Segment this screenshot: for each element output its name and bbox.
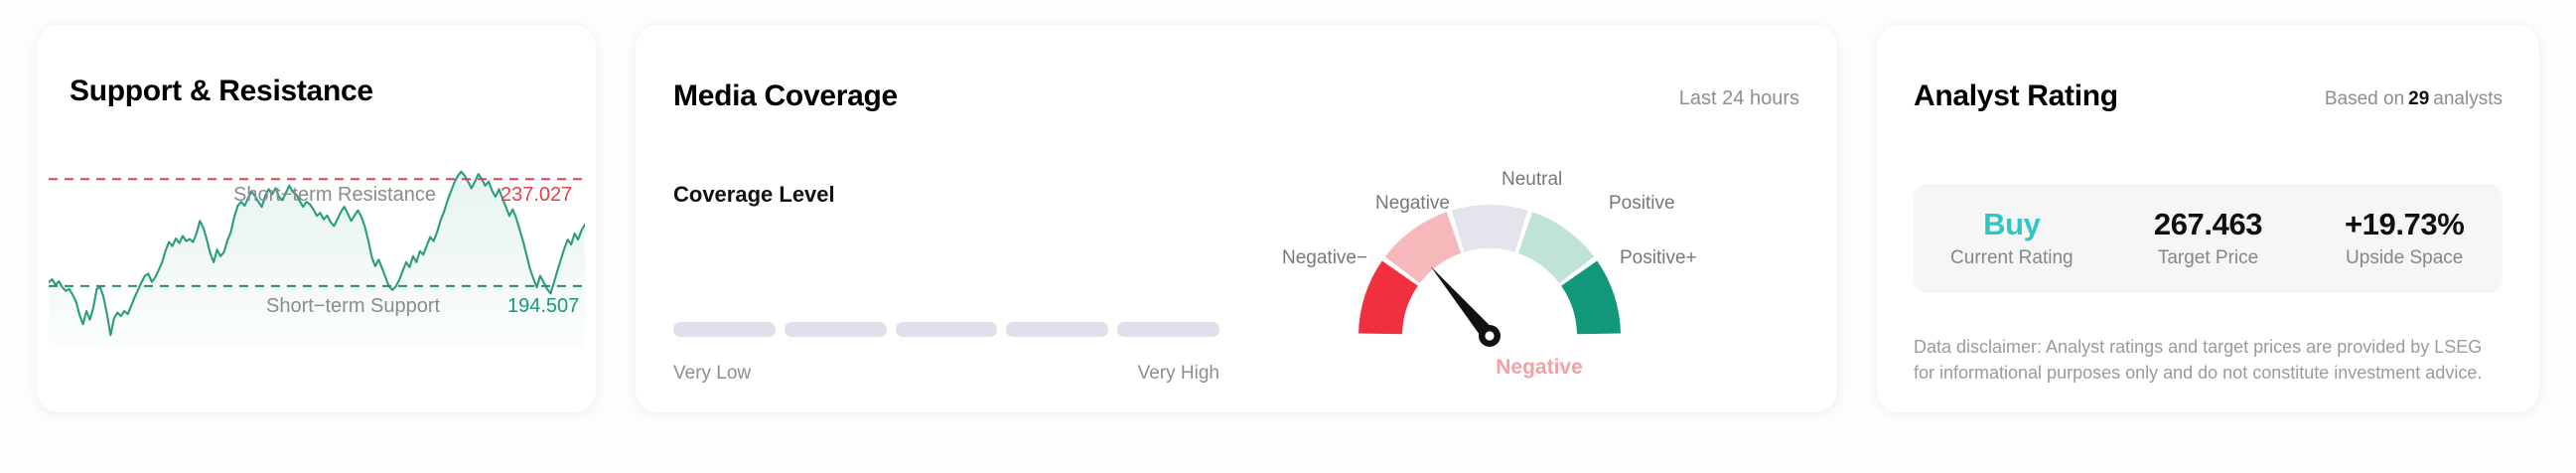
coverage-level-title: Coverage Level <box>673 182 835 208</box>
analyst-stat-label: Upside Space <box>2306 247 2503 269</box>
media-coverage-period: Last 24 hours <box>1679 87 1799 110</box>
coverage-segment-3[interactable] <box>896 322 998 337</box>
media-coverage-title: Media Coverage <box>673 79 898 113</box>
resistance-value: 237.027 <box>501 184 572 207</box>
analyst-count-summary: Based on29analysts <box>2325 88 2503 110</box>
coverage-segment-4[interactable] <box>1006 322 1108 337</box>
coverage-scale-low: Very Low <box>673 363 751 385</box>
coverage-level-bars[interactable] <box>673 322 1219 337</box>
analyst-rating-title: Analyst Rating <box>1914 79 2118 113</box>
analyst-stat-label: Current Rating <box>1914 247 2110 269</box>
support-value: 194.507 <box>507 295 579 318</box>
gauge-needle <box>1430 266 1501 347</box>
gauge-label-positive-plus: Positive+ <box>1620 247 1697 269</box>
gauge-segment-3 <box>1452 205 1528 252</box>
coverage-segment-1[interactable] <box>673 322 776 337</box>
media-coverage-card: Media Coverage Last 24 hours Coverage Le… <box>636 25 1837 412</box>
analyst-disclaimer: Data disclaimer: Analyst ratings and tar… <box>1914 335 2504 386</box>
analyst-rating-card: Analyst Rating Based on29analysts BuyCur… <box>1877 25 2539 412</box>
support-label: Short−term Support <box>266 295 440 318</box>
analyst-stats-panel: BuyCurrent Rating267.463Target Price+19.… <box>1914 184 2503 293</box>
analyst-stat-3: +19.73%Upside Space <box>2306 208 2503 268</box>
support-resistance-title: Support & Resistance <box>70 75 373 108</box>
gauge-label-neutral: Neutral <box>1502 169 1562 191</box>
coverage-segment-2[interactable] <box>785 322 887 337</box>
sentiment-gauge: Negative− Negative Neutral Positive Posi… <box>1271 169 1807 397</box>
analyst-stat-value: Buy <box>1914 208 2110 240</box>
analyst-stat-label: Target Price <box>2110 247 2307 269</box>
analyst-stat-1: BuyCurrent Rating <box>1914 208 2110 268</box>
gauge-needle-hub-center <box>1485 331 1494 340</box>
resistance-label: Short−term Resistance <box>233 184 436 207</box>
gauge-label-positive: Positive <box>1609 193 1675 215</box>
coverage-segment-5[interactable] <box>1117 322 1219 337</box>
analyst-stat-value: +19.73% <box>2306 208 2503 240</box>
dashboard-page: Support & Resistance Short−term Resistan… <box>0 0 2576 473</box>
analyst-count-number: 29 <box>2404 88 2433 109</box>
analyst-count-prefix: Based on <box>2325 88 2404 109</box>
gauge-label-negative: Negative <box>1375 193 1450 215</box>
gauge-label-negative-minus: Negative− <box>1282 247 1367 269</box>
gauge-status-text: Negative <box>1271 356 1807 380</box>
gauge-arc-segments <box>1359 205 1621 334</box>
analyst-stat-2: 267.463Target Price <box>2110 208 2307 268</box>
support-resistance-card: Support & Resistance Short−term Resistan… <box>37 25 596 412</box>
analyst-count-suffix: analysts <box>2433 88 2503 109</box>
coverage-scale-high: Very High <box>1138 363 1219 385</box>
coverage-level-scale: Very Low Very High <box>673 363 1219 385</box>
analyst-stat-value: 267.463 <box>2110 208 2307 240</box>
